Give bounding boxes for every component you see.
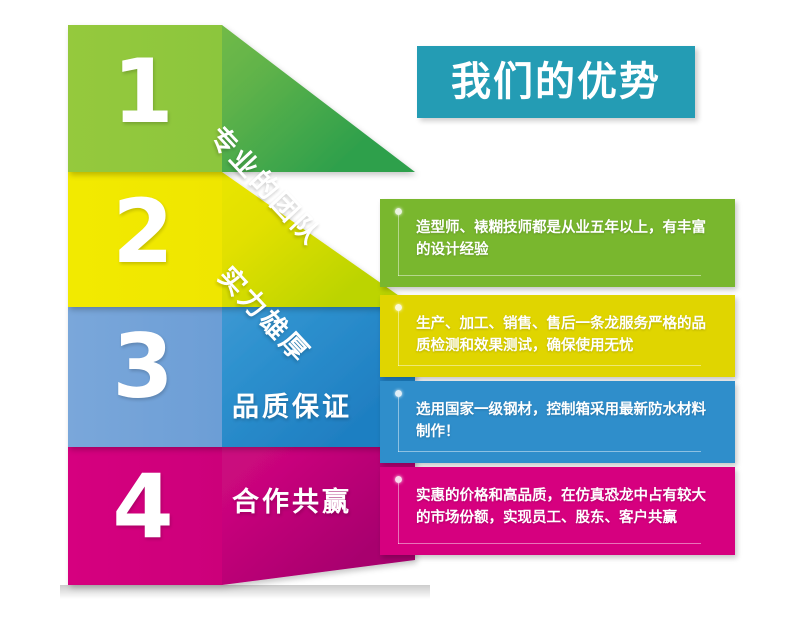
description-text-2: 生产、加工、销售、售后一条龙服务严格的品质检测和效果测试，确保使用无忧	[416, 313, 711, 358]
panel-vertical-rule	[398, 397, 399, 452]
page-title-banner: 我们的优势	[417, 46, 695, 118]
description-panel-2: 生产、加工、销售、售后一条龙服务严格的品质检测和效果测试，确保使用无忧	[380, 295, 735, 377]
infographic-root: 我们的优势 1 2 3 4 专业的团队 实力雄厚 品质保证 合作共赢 造型师、裱…	[0, 0, 800, 622]
description-text-4: 实惠的价格和高品质，在仿真恐龙中占有较大的市场份额，实现员工、股东、客户共赢	[416, 485, 711, 530]
bullet-dot-icon	[395, 476, 402, 483]
panel-vertical-rule	[398, 311, 399, 366]
bullet-dot-icon	[395, 390, 402, 397]
panel-horizontal-rule	[398, 365, 701, 366]
description-text-3: 选用国家一级钢材，控制箱采用最新防水材料制作！	[416, 399, 711, 444]
panel-horizontal-rule	[398, 451, 701, 452]
description-panel-3: 选用国家一级钢材，控制箱采用最新防水材料制作！	[380, 381, 735, 463]
page-title: 我们的优势	[451, 62, 661, 102]
description-panel-4: 实惠的价格和高品质，在仿真恐龙中占有较大的市场份额，实现员工、股东、客户共赢	[380, 467, 735, 555]
panel-vertical-rule	[398, 483, 399, 544]
description-text-1: 造型师、裱糊技师都是从业五年以上，有丰富的设计经验	[416, 217, 711, 262]
panel-vertical-rule	[398, 215, 399, 276]
panel-horizontal-rule	[398, 275, 701, 276]
description-panel-1: 造型师、裱糊技师都是从业五年以上，有丰富的设计经验	[380, 199, 735, 287]
panel-horizontal-rule	[398, 543, 701, 544]
bullet-dot-icon	[395, 208, 402, 215]
bullet-dot-icon	[395, 304, 402, 311]
